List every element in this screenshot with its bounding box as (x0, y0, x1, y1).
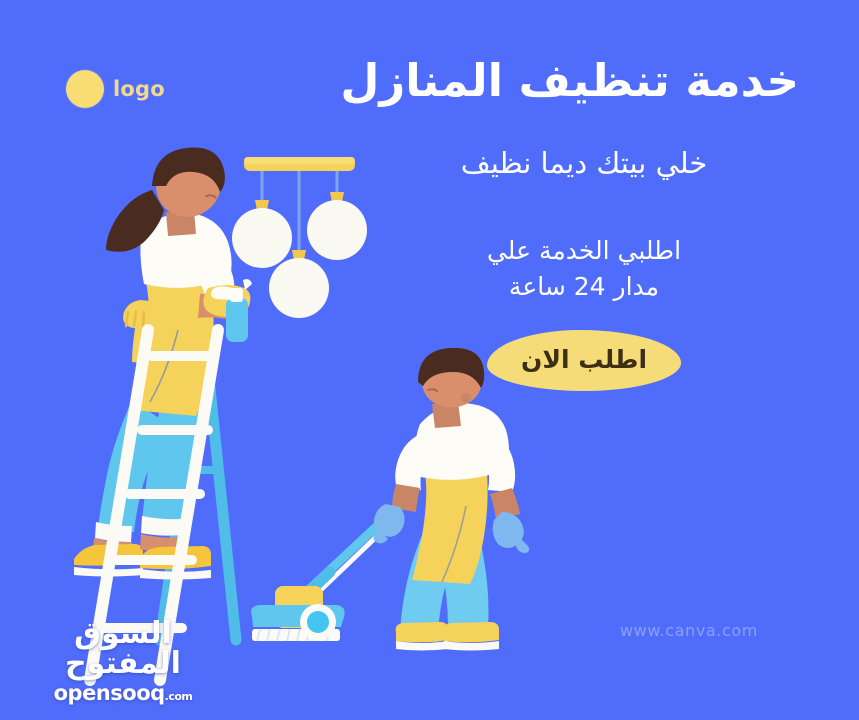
cta-container: اطلب الان (369, 330, 799, 391)
tagline: خلي بيتك ديما نظيف (369, 145, 799, 181)
logo-circle-icon (66, 70, 104, 108)
ad-copy-block: خدمة تنظيف المنازل خلي بيتك ديما نظيف اط… (369, 54, 799, 391)
page-title: خدمة تنظيف المنازل (369, 54, 799, 107)
availability-line-1: اطلبي الخدمة علي (369, 233, 799, 269)
floor-cleaner-icon (251, 512, 398, 641)
pendant-lamps-icon (232, 157, 367, 318)
step-ladder-back-icon (160, 340, 236, 640)
order-now-button[interactable]: اطلب الان (487, 330, 681, 391)
logo-label: logo (113, 77, 165, 101)
woman-cleaner-figure (74, 147, 252, 579)
opensooq-watermark: السوق المفتوح opensooq.com (28, 619, 218, 704)
opensooq-latin-label: opensooq.com (28, 683, 218, 704)
spray-bottle-icon (211, 279, 252, 342)
poster-canvas: logo خدمة تنظيف المنازل خلي بيتك ديما نظ… (0, 0, 859, 720)
availability-text: اطلبي الخدمة علي مدار 24 ساعة (369, 233, 799, 304)
opensooq-tld: .com (165, 690, 193, 703)
availability-line-2: مدار 24 ساعة (369, 269, 799, 305)
opensooq-name: opensooq (54, 681, 165, 705)
canva-watermark: www.canva.com (620, 621, 758, 640)
opensooq-arabic-label: السوق المفتوح (28, 619, 218, 679)
brand-logo[interactable]: logo (66, 70, 165, 108)
man-cleaner-figure (373, 348, 529, 651)
